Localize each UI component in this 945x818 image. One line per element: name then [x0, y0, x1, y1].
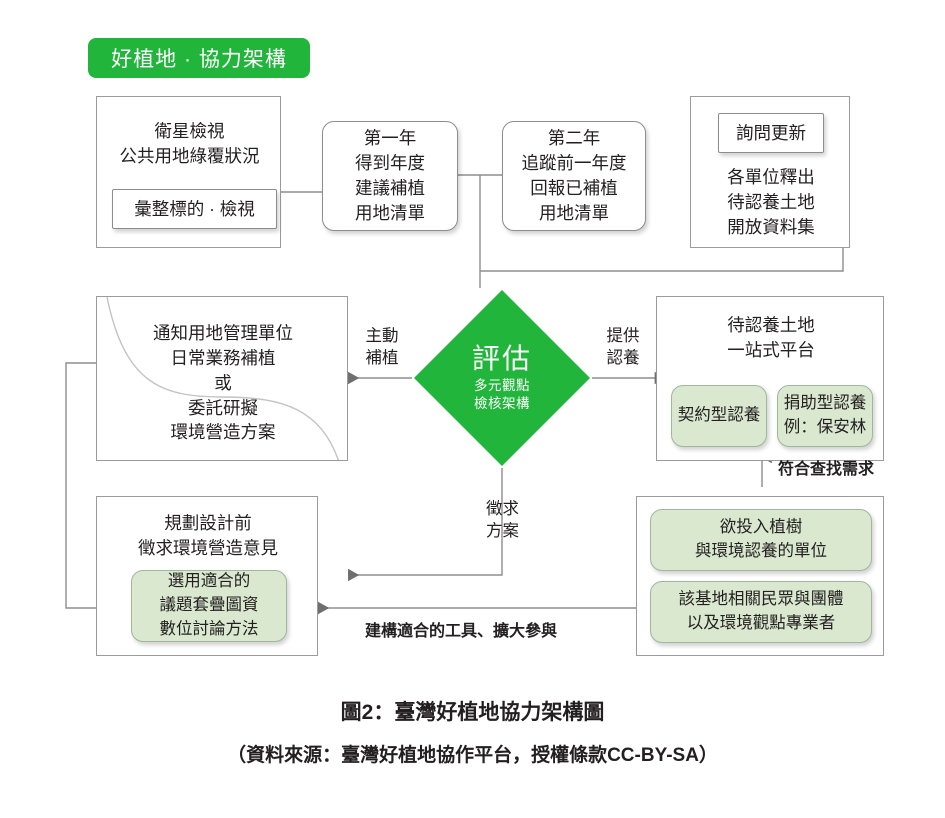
box-aggregate-target: 彙整標的 · 檢視 — [112, 189, 277, 229]
panel-adoption-platform: 待認養土地 一站式平台 契約型認養 捐助型認養 例：保安林 — [656, 296, 884, 461]
box-local-stakeholders: 該基地相關民眾與團體 以及環境觀點專業者 — [650, 581, 872, 643]
figure-caption-main: 圖2：臺灣好植地協力架構圖 — [0, 696, 945, 726]
panel-participants: 欲投入植樹 與環境認養的單位 該基地相關民眾與團體 以及環境觀點專業者 — [636, 496, 884, 656]
label-solicit-plan: 徵求 方案 — [486, 498, 548, 543]
panel-open-data: 詢問更新 各單位釋出 待認養土地 開放資料集 — [690, 96, 850, 248]
box-discussion-method: 選用適合的 議題套疊圖資 數位討論方法 — [131, 570, 287, 642]
box-planting-units-label: 欲投入植樹 與環境認養的單位 — [695, 516, 827, 564]
open-data-text: 各單位釋出 待認養土地 開放資料集 — [691, 165, 851, 240]
box-donation-adoption: 捐助型認養 例：保安林 — [777, 385, 873, 447]
label-active-replant: 主動 補植 — [352, 325, 412, 370]
box-query-update: 詢問更新 — [718, 113, 824, 153]
pre-design-title: 規劃設計前 徵求環境營造意見 — [97, 511, 319, 561]
title-badge-label: 好植地 · 協力架構 — [111, 43, 287, 73]
figure-caption-source: （資料來源：臺灣好植地協作平台，授權條款CC-BY-SA） — [0, 740, 945, 767]
box-planting-units: 欲投入植樹 與環境認養的單位 — [650, 509, 872, 571]
box-query-update-label: 詢問更新 — [736, 121, 806, 146]
diamond-shape — [412, 288, 592, 468]
title-badge: 好植地 · 協力架構 — [88, 38, 310, 78]
box-year-one: 第一年 得到年度 建議補植 用地清單 — [322, 121, 458, 231]
evaluation-diamond: 評估 多元觀點 檢核架構 — [412, 288, 592, 468]
box-year-two: 第二年 追蹤前一年度 回報已補植 用地清單 — [502, 121, 646, 231]
box-donation-adoption-label: 捐助型認養 例：保安林 — [784, 392, 867, 440]
label-provide-adoption: 提供 認養 — [592, 325, 654, 370]
box-year-one-label: 第一年 得到年度 建議補植 用地清單 — [355, 126, 425, 225]
box-year-two-label: 第二年 追蹤前一年度 回報已補植 用地清單 — [522, 126, 627, 225]
box-discussion-method-label: 選用適合的 議題套疊圖資 數位討論方法 — [160, 570, 259, 642]
panel-satellite-review: 衛星檢視 公共用地綠覆狀況 彙整標的 · 檢視 — [96, 96, 281, 248]
satellite-review-text: 衛星檢視 公共用地綠覆狀況 — [97, 119, 282, 169]
box-local-stakeholders-label: 該基地相關民眾與團體 以及環境觀點專業者 — [679, 588, 844, 636]
diagram-canvas: 好植地 · 協力架構 衛星檢視 公共用地綠覆狀況 彙整標的 · 檢視 第一年 得… — [0, 0, 945, 818]
adoption-platform-title: 待認養土地 一站式平台 — [657, 313, 885, 363]
box-aggregate-target-label: 彙整標的 · 檢視 — [134, 197, 255, 222]
box-contract-adoption: 契約型認養 — [671, 385, 767, 447]
box-contract-adoption-label: 契約型認養 — [678, 404, 761, 428]
notify-land-unit-text: 通知用地管理單位 日常業務補植 或 委託研擬 環境營造方案 — [97, 321, 348, 445]
panel-pre-design-opinion: 規劃設計前 徵求環境營造意見 選用適合的 議題套疊圖資 數位討論方法 — [96, 496, 318, 656]
label-match-search: 符合查找需求 — [778, 455, 874, 479]
panel-notify-land-unit: 通知用地管理單位 日常業務補植 或 委託研擬 環境營造方案 — [96, 296, 348, 461]
label-build-tools: 建構適合的工具、擴大參與 — [365, 617, 557, 641]
